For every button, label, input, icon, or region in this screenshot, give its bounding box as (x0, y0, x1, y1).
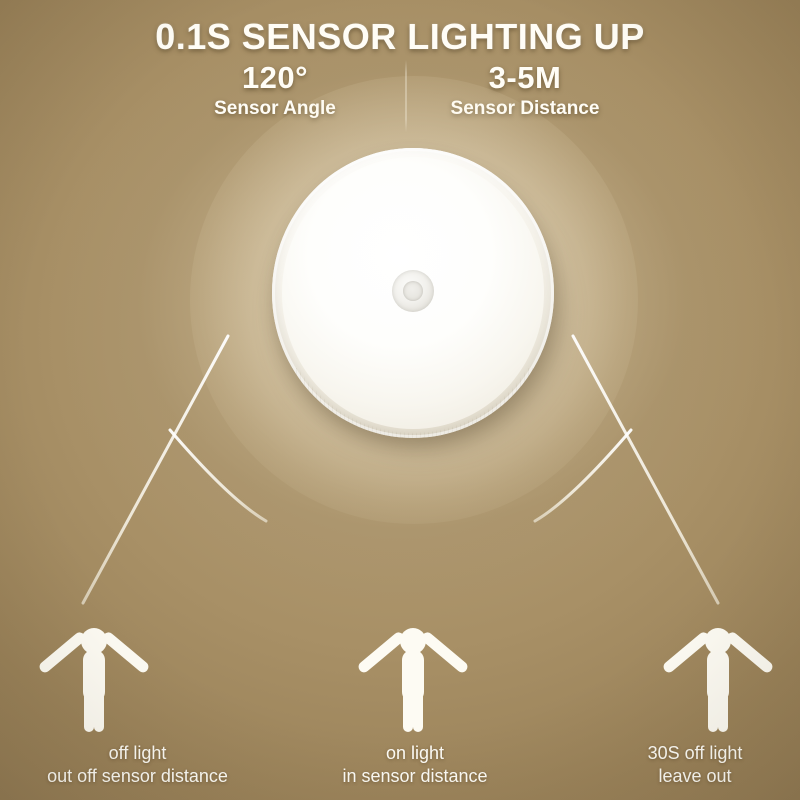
scenario-caption-left: off light out off sensor distance (0, 742, 275, 788)
person-arms-raised-icon-right (660, 622, 776, 732)
spec-divider (405, 60, 407, 132)
person-arms-raised-icon-center (355, 622, 471, 732)
spec-sensor-distance: 3-5M Sensor Distance (400, 60, 650, 121)
page-title: 0.1S SENSOR LIGHTING UP (0, 16, 800, 58)
range-arc-left (170, 430, 266, 521)
scenario-left-line2: out off sensor distance (0, 765, 275, 788)
beam-edge-left (83, 336, 228, 603)
scenario-center-line2: in sensor distance (300, 765, 530, 788)
spec-angle-value: 120° (150, 60, 400, 96)
pir-sensor-dome-icon (392, 270, 434, 312)
scenario-center-line1: on light (386, 743, 444, 763)
person-arms-raised-icon-left (36, 622, 152, 732)
spec-distance-label: Sensor Distance (400, 97, 650, 121)
scenario-right-line1: 30S off light (648, 743, 743, 763)
beam-edge-right (573, 336, 718, 603)
sensor-light-product (270, 146, 558, 446)
spec-distance-value: 3-5M (400, 60, 650, 96)
spec-angle-label: Sensor Angle (150, 97, 400, 121)
pir-sensor-lens (403, 281, 423, 301)
scenario-right-line2: leave out (590, 765, 800, 788)
scenario-left-line1: off light (109, 743, 167, 763)
infographic-canvas: 0.1S SENSOR LIGHTING UP 120° Sensor Angl… (0, 0, 800, 800)
scenario-caption-center: on light in sensor distance (300, 742, 530, 788)
spec-row: 120° Sensor Angle 3-5M Sensor Distance (150, 60, 650, 138)
scenario-caption-right: 30S off light leave out (590, 742, 800, 788)
spec-sensor-angle: 120° Sensor Angle (150, 60, 400, 121)
